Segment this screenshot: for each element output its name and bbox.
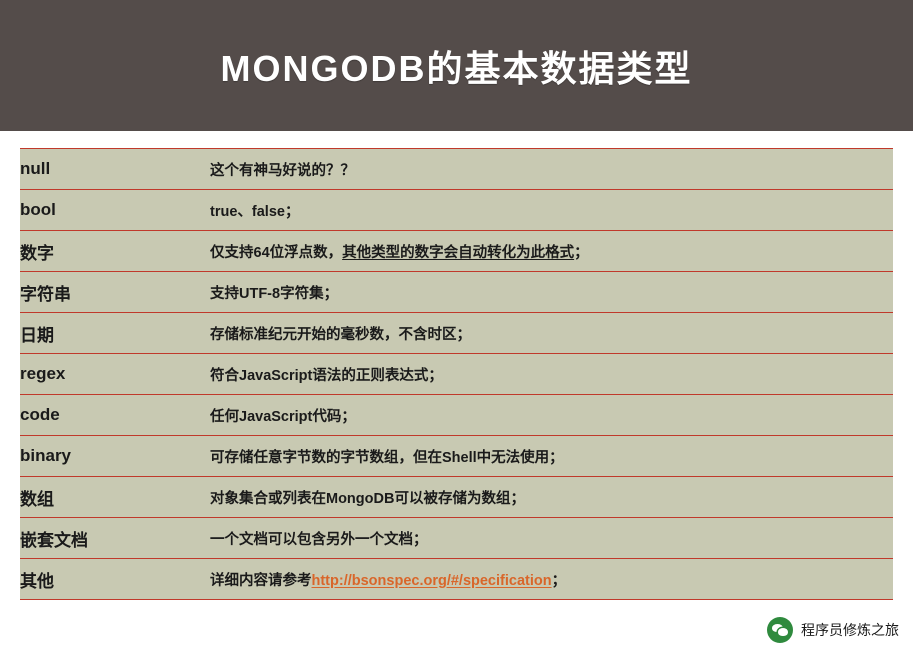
data-types-table: null这个有神马好说的？？booltrue、false；数字仅支持64位浮点数… <box>20 148 893 600</box>
description-text: 仅支持64位浮点数， <box>210 245 342 261</box>
table-row: null这个有神马好说的？？ <box>20 149 893 190</box>
table-row: 数组对象集合或列表在MongoDB可以被存储为数组； <box>20 477 893 518</box>
description-text: 存储标准纪元开始的毫秒数，不含时区； <box>210 327 471 343</box>
cell-description: 对象集合或列表在MongoDB可以被存储为数组； <box>210 477 893 518</box>
cell-type: 嵌套文档 <box>20 518 210 559</box>
cell-type: binary <box>20 436 210 477</box>
cell-type: 其他 <box>20 559 210 600</box>
cell-description: 存储标准纪元开始的毫秒数，不含时区； <box>210 313 893 354</box>
table-row: 嵌套文档一个文档可以包含另外一个文档； <box>20 518 893 559</box>
page-title: MONGODB的基本数据类型 <box>0 0 913 131</box>
description-suffix: ； <box>552 573 567 589</box>
description-text: 对象集合或列表在MongoDB可以被存储为数组； <box>210 491 525 507</box>
cell-type: 数字 <box>20 231 210 272</box>
watermark-label: 程序员修炼之旅 <box>801 620 899 640</box>
table-body: null这个有神马好说的？？booltrue、false；数字仅支持64位浮点数… <box>20 149 893 600</box>
cell-description: 仅支持64位浮点数，其他类型的数字会自动转化为此格式； <box>210 231 893 272</box>
description-text: 这个有神马好说的？？ <box>210 163 355 179</box>
description-text: 任何JavaScript代码； <box>210 409 356 425</box>
cell-description: 符合JavaScript语法的正则表达式； <box>210 354 893 395</box>
watermark: 程序员修炼之旅 <box>767 617 899 643</box>
table-row: binary可存储任意字节数的字节数组，但在Shell中无法使用； <box>20 436 893 477</box>
cell-type: 数组 <box>20 477 210 518</box>
description-text: 可存储任意字节数的字节数组，但在Shell中无法使用； <box>210 450 564 466</box>
cell-type: null <box>20 149 210 190</box>
cell-type: 日期 <box>20 313 210 354</box>
cell-description: 可存储任意字节数的字节数组，但在Shell中无法使用； <box>210 436 893 477</box>
cell-type: bool <box>20 190 210 231</box>
description-text: 详细内容请参考 <box>210 573 312 589</box>
table-row: 其他详细内容请参考http://bsonspec.org/#/specifica… <box>20 559 893 600</box>
description-suffix: ； <box>574 245 589 261</box>
slide: MONGODB的基本数据类型 null这个有神马好说的？？booltrue、fa… <box>0 0 913 657</box>
description-emphasis: 其他类型的数字会自动转化为此格式 <box>342 245 574 261</box>
slide-body: null这个有神马好说的？？booltrue、false；数字仅支持64位浮点数… <box>0 131 913 657</box>
cell-description: 支持UTF-8字符集； <box>210 272 893 313</box>
cell-description: 一个文档可以包含另外一个文档； <box>210 518 893 559</box>
data-types-table-wrap: null这个有神马好说的？？booltrue、false；数字仅支持64位浮点数… <box>20 148 893 600</box>
cell-description: 详细内容请参考http://bsonspec.org/#/specificati… <box>210 559 893 600</box>
cell-type: 字符串 <box>20 272 210 313</box>
table-row: 字符串支持UTF-8字符集； <box>20 272 893 313</box>
bsonspec-link[interactable]: http://bsonspec.org/#/specification <box>312 573 552 589</box>
description-text: 符合JavaScript语法的正则表达式； <box>210 368 443 384</box>
cell-description: 这个有神马好说的？？ <box>210 149 893 190</box>
wechat-icon <box>767 617 793 643</box>
cell-type: code <box>20 395 210 436</box>
cell-type: regex <box>20 354 210 395</box>
description-text: true、false； <box>210 204 299 220</box>
cell-description: true、false； <box>210 190 893 231</box>
table-row: 日期存储标准纪元开始的毫秒数，不含时区； <box>20 313 893 354</box>
table-row: code任何JavaScript代码； <box>20 395 893 436</box>
table-row: booltrue、false； <box>20 190 893 231</box>
cell-description: 任何JavaScript代码； <box>210 395 893 436</box>
table-row: regex符合JavaScript语法的正则表达式； <box>20 354 893 395</box>
table-row: 数字仅支持64位浮点数，其他类型的数字会自动转化为此格式； <box>20 231 893 272</box>
description-text: 支持UTF-8字符集； <box>210 286 338 302</box>
description-text: 一个文档可以包含另外一个文档； <box>210 532 428 548</box>
